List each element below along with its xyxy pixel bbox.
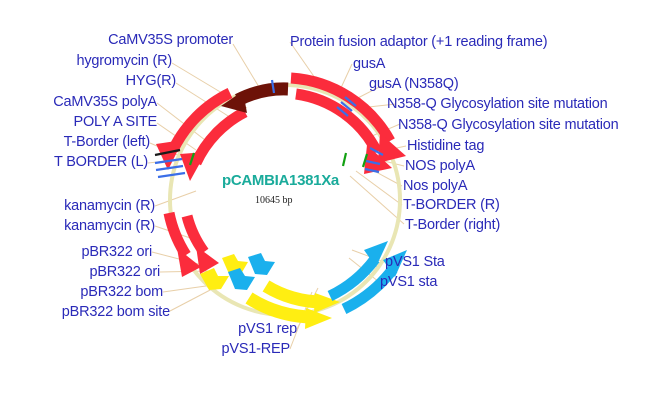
label-camv35s-polya: CaMV35S polyA — [0, 95, 157, 110]
label-t-border-r-upper: T-BORDER (R) — [403, 198, 500, 213]
label-glyco-mutation-2: N358-Q Glycosylation site mutation — [398, 118, 618, 133]
label-glyco-mutation-1: N358-Q Glycosylation site mutation — [387, 97, 607, 112]
label-pvs1-rep-caps: pVS1-REP — [0, 342, 290, 357]
label-histidine-tag: Histidine tag — [407, 139, 484, 154]
label-pbr322-ori-2: pBR322 ori — [0, 265, 160, 280]
label-pbr322-bom: pBR322 bom — [0, 285, 163, 300]
label-kanamycin-r-2: kanamycin (R) — [0, 219, 155, 234]
plasmid-map: pCAMBIA1381Xa 10645 bp CaMV35S promoter … — [0, 0, 660, 410]
label-kanamycin-r-1: kanamycin (R) — [0, 199, 155, 214]
label-pvs1-sta-upper: pVS1 Sta — [385, 255, 445, 270]
label-hygromycin-r: hygromycin (R) — [0, 54, 172, 69]
label-t-border-left: T-Border (left) — [0, 135, 150, 150]
feature-camv35s-promoter-arrow — [221, 89, 288, 113]
label-t-border-l: T BORDER (L) — [0, 155, 148, 170]
label-pbr322-ori-1: pBR322 ori — [0, 245, 152, 260]
label-nos-polya-lower: Nos polyA — [403, 179, 467, 194]
label-protein-fusion-adaptor: Protein fusion adaptor (+1 reading frame… — [290, 35, 547, 50]
label-poly-a-site: POLY A SITE — [0, 115, 157, 130]
tick-green-right-1 — [343, 153, 346, 166]
label-pbr322-bom-site: pBR322 bom site — [0, 305, 170, 320]
plasmid-size: 10645 bp — [255, 195, 293, 206]
label-gusa-n358q: gusA (N358Q) — [369, 77, 458, 92]
label-nos-polya-upper: NOS polyA — [405, 159, 475, 174]
label-gusa: gusA — [353, 57, 385, 72]
label-hyg-r: HYG(R) — [0, 74, 176, 89]
feature-pbr322-bom-arrow-2 — [248, 253, 275, 275]
label-pvs1-rep: pVS1 rep — [0, 322, 297, 337]
label-camv35s-promoter: CaMV35S promoter — [0, 33, 233, 48]
label-pvs1-sta-lower: pVS1 sta — [380, 275, 437, 290]
label-t-border-right-lower: T-Border (right) — [405, 218, 500, 233]
plasmid-name: pCAMBIA1381Xa — [222, 172, 339, 189]
feature-pbr322-bom-arrow-1 — [228, 268, 255, 290]
